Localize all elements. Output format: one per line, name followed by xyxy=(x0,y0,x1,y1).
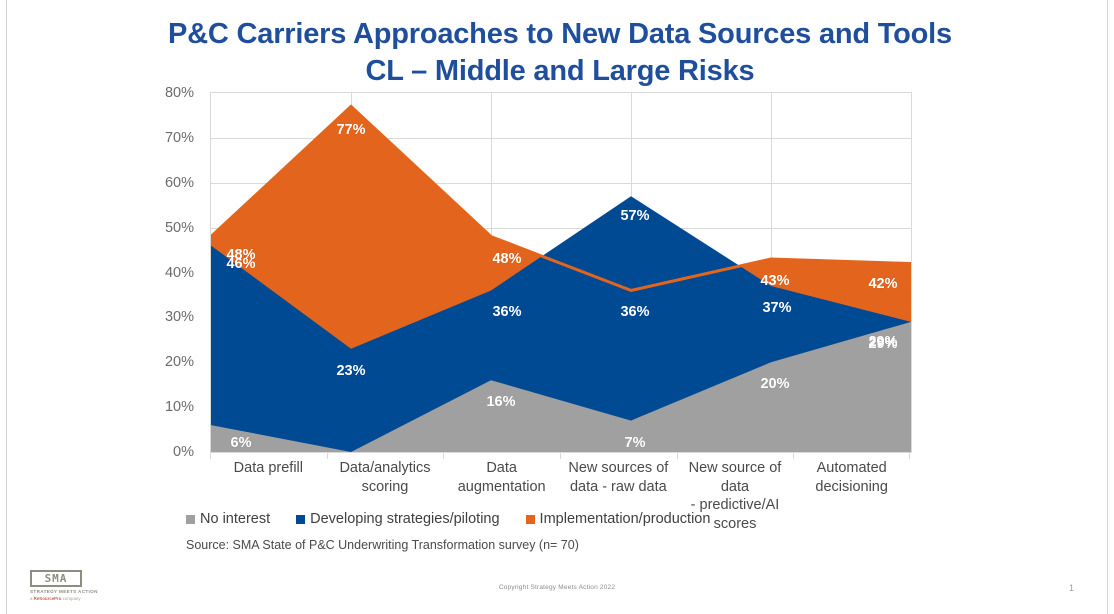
legend-item[interactable]: Developing strategies/piloting xyxy=(296,511,499,527)
source-note: Source: SMA State of P&C Underwriting Tr… xyxy=(186,538,579,552)
y-axis: 80%70%60%50%40%30%20%10%0% xyxy=(150,92,202,453)
legend-swatch-icon xyxy=(186,515,195,524)
data-label: 43% xyxy=(760,273,789,289)
data-label: 36% xyxy=(492,304,521,320)
x-axis-tick xyxy=(560,453,561,459)
data-label: 48% xyxy=(226,247,255,263)
legend-swatch-icon xyxy=(526,515,535,524)
tagline-brand: ReSourcePro xyxy=(34,596,62,601)
x-axis-category-label: Data prefill xyxy=(210,459,327,478)
chart-title-line-2: CL – Middle and Large Risks xyxy=(120,53,1000,90)
plot-area: 6%0%16%7%20%29%46%23%36%57%37%29%48%77%4… xyxy=(210,92,912,453)
y-axis-tick-label: 10% xyxy=(165,399,194,415)
legend-item[interactable]: No interest xyxy=(186,511,270,527)
y-axis-tick-label: 30% xyxy=(165,309,194,325)
y-axis-tick-label: 40% xyxy=(165,265,194,281)
x-axis-tick xyxy=(443,453,444,459)
copyright-text: Copyright Strategy Meets Action 2022 xyxy=(0,584,1114,591)
x-axis-category-label: Data augmentation xyxy=(443,459,560,496)
page-number: 1 xyxy=(1069,583,1074,593)
data-label: 57% xyxy=(620,208,649,224)
x-axis-tick xyxy=(327,453,328,459)
data-label: 48% xyxy=(492,251,521,267)
y-axis-tick-label: 70% xyxy=(165,130,194,146)
y-axis-tick-label: 0% xyxy=(173,444,194,460)
x-axis: Data prefillData/analyticsscoringData au… xyxy=(210,459,912,513)
area-series-svg xyxy=(211,93,911,452)
x-axis-category-label: New sources ofdata - raw data xyxy=(560,459,677,496)
legend-label: Implementation/production xyxy=(540,511,711,527)
data-label: 42% xyxy=(868,276,897,292)
x-axis-tick xyxy=(909,453,910,459)
y-axis-tick-label: 60% xyxy=(165,175,194,191)
x-axis-category-label: Automateddecisioning xyxy=(793,459,910,496)
legend-item[interactable]: Implementation/production xyxy=(526,511,711,527)
y-axis-tick-label: 80% xyxy=(165,85,194,101)
data-label: 77% xyxy=(336,122,365,138)
data-label: 16% xyxy=(486,394,515,410)
y-axis-tick-label: 50% xyxy=(165,220,194,236)
chart-legend: No interestDeveloping strategies/pilotin… xyxy=(186,509,736,529)
footer-divider xyxy=(7,563,1107,564)
x-axis-category-label: Data/analyticsscoring xyxy=(327,459,444,496)
legend-swatch-icon xyxy=(296,515,305,524)
x-axis-tick xyxy=(677,453,678,459)
x-axis-tick xyxy=(210,453,211,459)
slide-left-border xyxy=(6,0,7,614)
data-label: 37% xyxy=(762,300,791,316)
data-label: 29% xyxy=(868,334,897,350)
data-label: 6% xyxy=(231,435,252,451)
y-axis-tick-label: 20% xyxy=(165,354,194,370)
tagline-suffix: company xyxy=(62,596,81,601)
slide-right-border xyxy=(1107,0,1108,614)
data-label: 36% xyxy=(620,304,649,320)
legend-label: No interest xyxy=(200,511,270,527)
x-axis-tick xyxy=(793,453,794,459)
legend-label: Developing strategies/piloting xyxy=(310,511,499,527)
data-label: 20% xyxy=(760,376,789,392)
chart-title: P&C Carriers Approaches to New Data Sour… xyxy=(120,16,1000,90)
sma-logo-tagline: a ReSourcePro company xyxy=(30,596,92,601)
data-label: 23% xyxy=(336,363,365,379)
slide: P&C Carriers Approaches to New Data Sour… xyxy=(0,0,1114,614)
chart-title-line-1: P&C Carriers Approaches to New Data Sour… xyxy=(120,16,1000,53)
data-label: 7% xyxy=(625,435,646,451)
